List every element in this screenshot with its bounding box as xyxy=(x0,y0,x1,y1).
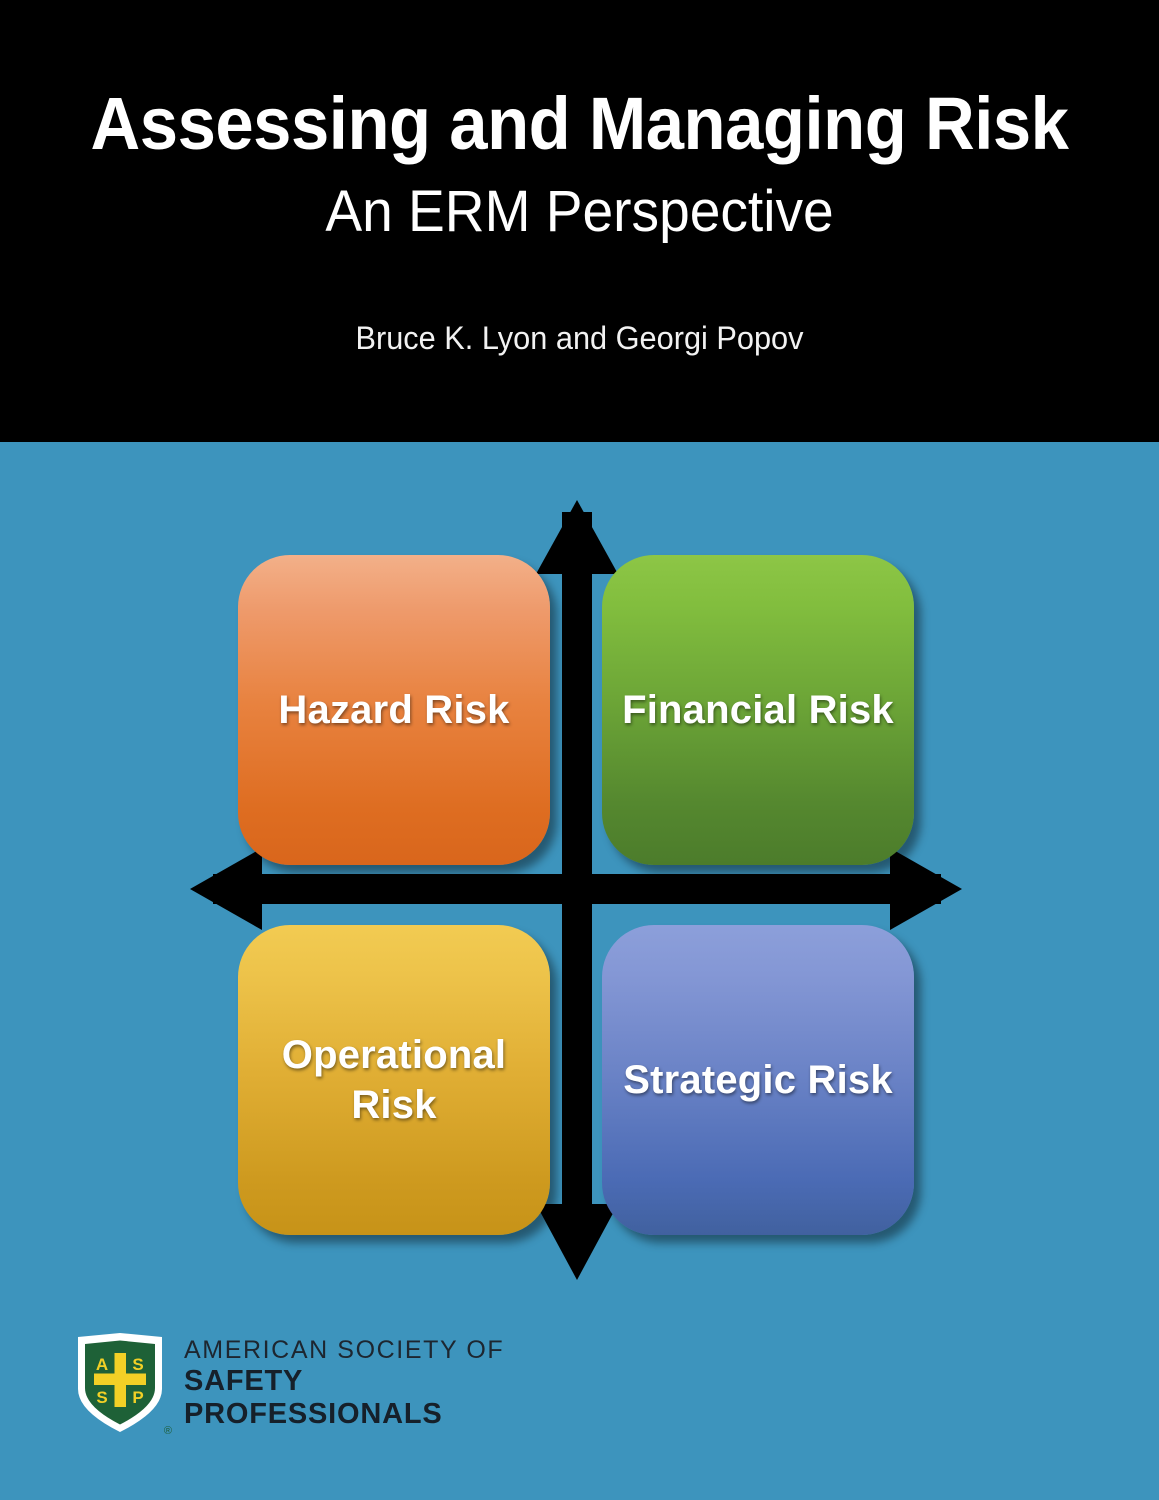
svg-text:P: P xyxy=(132,1388,143,1407)
shield-graphic: A S S P xyxy=(72,1331,168,1435)
author-byline: Bruce K. Lyon and Georgi Popov xyxy=(23,318,1136,358)
assp-logo-line2: SAFETY PROFESSIONALS xyxy=(184,1365,522,1431)
svg-text:S: S xyxy=(96,1388,107,1407)
quadrant-label: Strategic Risk xyxy=(611,1055,905,1105)
assp-logo-line1: AMERICAN SOCIETY OF xyxy=(184,1336,522,1365)
registered-trademark-icon: ® xyxy=(164,1425,172,1437)
quadrant-label: Financial Risk xyxy=(610,685,906,735)
quadrant-financial-risk[interactable]: Financial Risk xyxy=(602,555,914,865)
title-band: Assessing and Managing Risk An ERM Persp… xyxy=(0,0,1159,442)
quadrant-label: Operational Risk xyxy=(238,1030,550,1130)
book-cover: Assessing and Managing Risk An ERM Persp… xyxy=(0,0,1159,1500)
svg-text:S: S xyxy=(132,1355,143,1374)
quadrant-hazard-risk[interactable]: Hazard Risk xyxy=(238,555,550,865)
assp-logo: A S S P ® AMERICAN SOCIETY OF SAFETY PRO… xyxy=(72,1329,522,1437)
svg-text:A: A xyxy=(96,1355,108,1374)
quadrant-operational-risk[interactable]: Operational Risk xyxy=(238,925,550,1235)
quadrant-diagram: Hazard Risk Financial Risk Operational R… xyxy=(0,442,1159,1292)
assp-shield-icon: A S S P ® xyxy=(72,1331,168,1435)
assp-logo-text: AMERICAN SOCIETY OF SAFETY PROFESSIONALS xyxy=(184,1336,522,1431)
axis-arrows xyxy=(0,442,1159,1292)
quadrant-label: Hazard Risk xyxy=(266,685,521,735)
quadrant-strategic-risk[interactable]: Strategic Risk xyxy=(602,925,914,1235)
page-subtitle: An ERM Perspective xyxy=(29,178,1130,246)
page-title: Assessing and Managing Risk xyxy=(41,82,1119,166)
